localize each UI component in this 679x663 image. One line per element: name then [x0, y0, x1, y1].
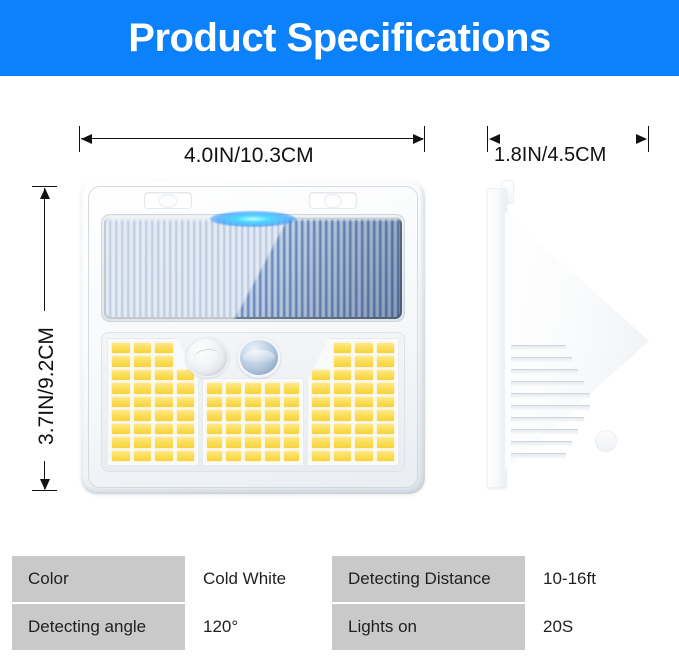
led-chip [355, 383, 373, 393]
led-chip [155, 343, 173, 353]
width-tick-right [424, 126, 425, 152]
led-chip [245, 424, 260, 435]
led-chip [355, 424, 373, 434]
vent-slot [511, 357, 572, 362]
led-chip [284, 424, 299, 435]
led-chip [355, 397, 373, 407]
spec-value-detecting-distance: 10-16ft [527, 556, 667, 604]
led-chip [377, 424, 395, 434]
width-tick-left [79, 126, 80, 152]
led-chip [134, 397, 152, 407]
vent-slot [511, 381, 584, 386]
led-chip [312, 397, 330, 407]
led-chip [177, 451, 195, 461]
led-chip [155, 437, 173, 447]
led-chip [226, 410, 241, 421]
led-bank-center [202, 378, 304, 466]
motion-sensor-icon [237, 337, 281, 378]
led-chip [312, 383, 330, 393]
led-bank-right [307, 338, 399, 466]
sensor-cluster [182, 332, 284, 382]
led-chip [226, 397, 241, 408]
led-chip [112, 343, 130, 353]
arrow-down-icon [40, 479, 50, 490]
led-chip [207, 451, 222, 462]
spec-value-detecting-angle: 120° [187, 604, 332, 652]
led-chip [284, 383, 299, 394]
led-chip [177, 424, 195, 434]
vent-slot [511, 405, 590, 410]
led-chip [207, 437, 222, 448]
led-chip [207, 410, 222, 421]
led-chip [134, 383, 152, 393]
vent-slot [511, 417, 584, 422]
depth-tick-left [487, 126, 488, 152]
side-back-plate [487, 188, 507, 488]
led-chip [226, 383, 241, 394]
height-tick-bottom [32, 490, 57, 491]
led-chip [355, 343, 373, 353]
vent-slot [511, 429, 578, 434]
spec-table: Color Cold White Detecting Distance 10-1… [12, 556, 667, 652]
led-chip [377, 343, 395, 353]
led-chip [207, 383, 222, 394]
led-chip [355, 451, 373, 461]
led-chip [177, 397, 195, 407]
header-banner: Product Specifications [0, 0, 679, 76]
spec-label-detecting-angle: Detecting angle [12, 604, 187, 652]
led-chip [226, 451, 241, 462]
led-chip [377, 356, 395, 366]
led-chip [112, 397, 130, 407]
led-chip [245, 410, 260, 421]
led-chip [334, 397, 352, 407]
led-chip [112, 424, 130, 434]
led-chip [334, 451, 352, 461]
status-led-indicator-icon [210, 211, 296, 227]
height-dimension-label: 3.7IN/9.2CM [35, 311, 59, 461]
led-chip [226, 424, 241, 435]
led-chip [377, 370, 395, 380]
led-chip [112, 370, 130, 380]
led-chip [312, 451, 330, 461]
product-diagram: 4.0IN/10.3CM 1.8IN/4.5CM 3.7IN/9.2CM [0, 76, 679, 546]
depth-tick-right [648, 126, 649, 152]
vent-slot [511, 345, 566, 350]
led-chip [334, 343, 352, 353]
led-chip [312, 343, 330, 353]
led-chip [265, 397, 280, 408]
led-chip [245, 437, 260, 448]
led-chip [284, 451, 299, 462]
spec-label-detecting-distance: Detecting Distance [332, 556, 527, 604]
led-chip [334, 356, 352, 366]
solar-panel [104, 217, 402, 319]
arrow-right-icon [413, 134, 424, 144]
arrow-right-icon [636, 134, 647, 144]
depth-dimension-label: 1.8IN/4.5CM [494, 144, 606, 167]
led-chip [312, 370, 330, 380]
led-chip [226, 437, 241, 448]
arrow-up-icon [40, 188, 50, 199]
led-chip [177, 410, 195, 420]
led-chip [155, 410, 173, 420]
light-sensor-icon [185, 337, 229, 378]
spec-label-lights-on: Lights on [332, 604, 527, 652]
led-chip [377, 410, 395, 420]
width-dimension-label: 4.0IN/10.3CM [176, 144, 322, 168]
led-chip [265, 383, 280, 394]
led-chip [177, 383, 195, 393]
led-chip [112, 437, 130, 447]
led-chip [265, 437, 280, 448]
led-chip [284, 437, 299, 448]
led-chip [177, 437, 195, 447]
led-chip [312, 410, 330, 420]
led-chip [334, 410, 352, 420]
vent-slot [511, 453, 566, 458]
led-chip [155, 383, 173, 393]
led-chip [134, 410, 152, 420]
led-chip [134, 451, 152, 461]
led-chip [312, 356, 330, 366]
side-foot [595, 430, 617, 452]
led-chip [265, 410, 280, 421]
height-tick-top [32, 186, 57, 187]
led-chip [355, 437, 373, 447]
led-chip-grid-right [312, 343, 394, 461]
mount-tab-left [144, 192, 192, 209]
led-chip [334, 370, 352, 380]
led-chip [134, 343, 152, 353]
vent-slot [511, 369, 578, 374]
led-chip [377, 451, 395, 461]
side-vent-slots [511, 345, 597, 465]
led-chip [265, 451, 280, 462]
led-chip [155, 397, 173, 407]
led-chip [134, 437, 152, 447]
led-chip [377, 437, 395, 447]
led-chip [134, 356, 152, 366]
solar-light-front-view [81, 180, 425, 494]
led-chip [112, 410, 130, 420]
led-chip [377, 383, 395, 393]
arrow-left-icon [81, 134, 92, 144]
led-chip [155, 356, 173, 366]
width-dimension-line [81, 138, 423, 139]
led-chip [245, 383, 260, 394]
led-chip [334, 383, 352, 393]
led-chip [155, 370, 173, 380]
led-chip [134, 370, 152, 380]
led-chip [207, 424, 222, 435]
led-chip [312, 424, 330, 434]
mount-tab-right [309, 192, 357, 209]
page-title: Product Specifications [0, 0, 679, 76]
led-chip [155, 451, 173, 461]
led-chip [355, 410, 373, 420]
vent-slot [511, 441, 572, 446]
led-chip [377, 397, 395, 407]
led-chip [245, 397, 260, 408]
led-chip [355, 370, 373, 380]
led-chip [284, 410, 299, 421]
led-chip [284, 397, 299, 408]
led-chip [245, 451, 260, 462]
vent-slot [511, 393, 590, 398]
solar-panel-highlight [104, 217, 402, 319]
led-chip [355, 356, 373, 366]
led-chip [265, 424, 280, 435]
led-chip [112, 356, 130, 366]
solar-light-side-view [487, 180, 649, 494]
led-chip [112, 383, 130, 393]
led-chip [134, 424, 152, 434]
led-chip [334, 424, 352, 434]
led-chip [155, 424, 173, 434]
led-chip-grid-center [207, 383, 299, 461]
arrow-left-icon [489, 134, 500, 144]
led-chip [207, 397, 222, 408]
led-chip [112, 451, 130, 461]
spec-label-color: Color [12, 556, 187, 604]
led-chip [312, 437, 330, 447]
spec-value-lights-on: 20S [527, 604, 667, 652]
spec-value-color: Cold White [187, 556, 332, 604]
solar-panel-frame [101, 214, 405, 322]
led-chip [334, 437, 352, 447]
